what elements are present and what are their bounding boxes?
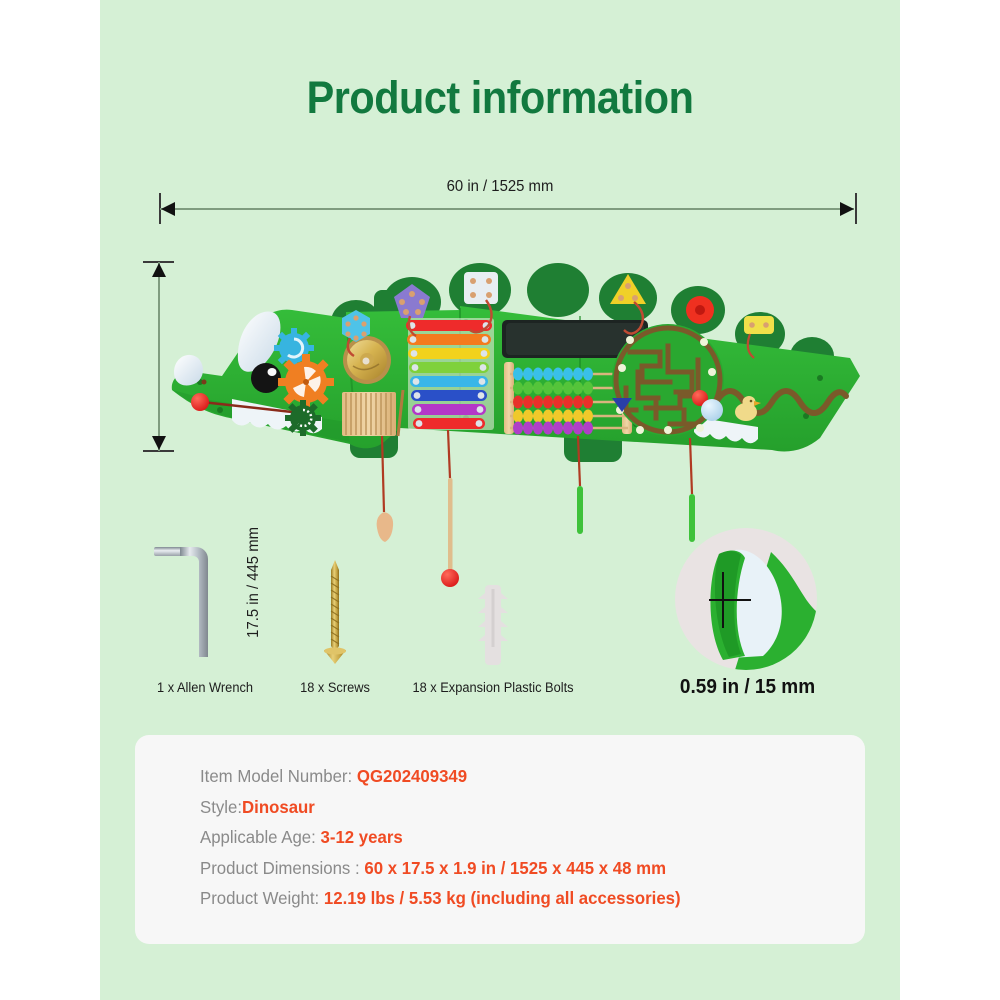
spec-row: Applicable Age: 3-12 years <box>200 822 681 853</box>
spec-label: Applicable Age: <box>200 827 316 847</box>
wood-washboard <box>342 390 403 436</box>
spec-row: Item Model Number: QG202409349 <box>200 761 681 792</box>
width-tick-right <box>855 193 857 224</box>
arrow-left-icon <box>161 202 175 216</box>
xylophone-bar <box>407 334 491 345</box>
accessory-caption-bolts: 18 x Expansion Plastic Bolts <box>403 680 584 695</box>
xylophone-bar <box>408 348 490 359</box>
allen-wrench-icon <box>150 535 260 670</box>
brass-bell <box>343 336 391 384</box>
xylophone-bar <box>411 390 487 401</box>
nose-knob <box>191 393 209 411</box>
spec-label: Product Weight: <box>200 888 319 908</box>
xylophone-bar <box>406 320 492 331</box>
nostril <box>202 380 207 385</box>
spec-label: Style: <box>200 797 242 817</box>
spec-value: 12.19 lbs / 5.53 kg (including all acces… <box>324 888 681 908</box>
specifications-card: Item Model Number: QG202409349 Style:Din… <box>135 735 865 944</box>
infographic-page: Product information 60 in / 1525 mm 17.5… <box>0 0 1000 1000</box>
bead-blue <box>701 399 723 421</box>
gear-green-icon <box>285 400 321 436</box>
spec-row: Product Dimensions : 60 x 17.5 x 1.9 in … <box>200 853 681 884</box>
red-knob <box>686 296 714 324</box>
hanging-mallet <box>441 430 459 587</box>
xylophone-bar <box>413 418 485 429</box>
spec-value: Dinosaur <box>242 797 315 817</box>
spec-value: QG202409349 <box>357 766 467 786</box>
eye <box>251 363 281 393</box>
spec-label: Item Model Number: <box>200 766 352 786</box>
thickness-detail <box>675 528 817 670</box>
width-dimension-line <box>160 208 854 210</box>
specifications-list: Item Model Number: QG202409349 Style:Din… <box>200 761 701 914</box>
width-dimension-label: 60 in / 1525 mm <box>342 178 658 196</box>
xylophone-bar <box>409 362 489 373</box>
xylophone-bar <box>412 404 486 415</box>
thickness-label: 0.59 in / 15 mm <box>655 676 840 699</box>
arrow-right-icon <box>840 202 854 216</box>
xylophone-bar <box>410 376 488 387</box>
hanging-tools <box>377 430 695 587</box>
spec-label: Product Dimensions : <box>200 858 360 878</box>
xylophone <box>406 318 494 430</box>
screw-icon <box>318 558 352 670</box>
hanging-green-stick-2 <box>689 438 695 542</box>
spec-row: Style:Dinosaur <box>200 792 681 823</box>
spec-value: 60 x 17.5 x 1.9 in / 1525 x 445 x 48 mm <box>364 858 666 878</box>
thickness-zoom-circle <box>675 528 817 670</box>
page-title: Product information <box>132 72 868 124</box>
spec-row: Product Weight: 12.19 lbs / 5.53 kg (inc… <box>200 883 681 914</box>
expansion-plastic-bolt-icon <box>476 585 510 670</box>
spec-value: 3-12 years <box>321 827 403 847</box>
accessory-caption-screws: 18 x Screws <box>254 680 416 695</box>
